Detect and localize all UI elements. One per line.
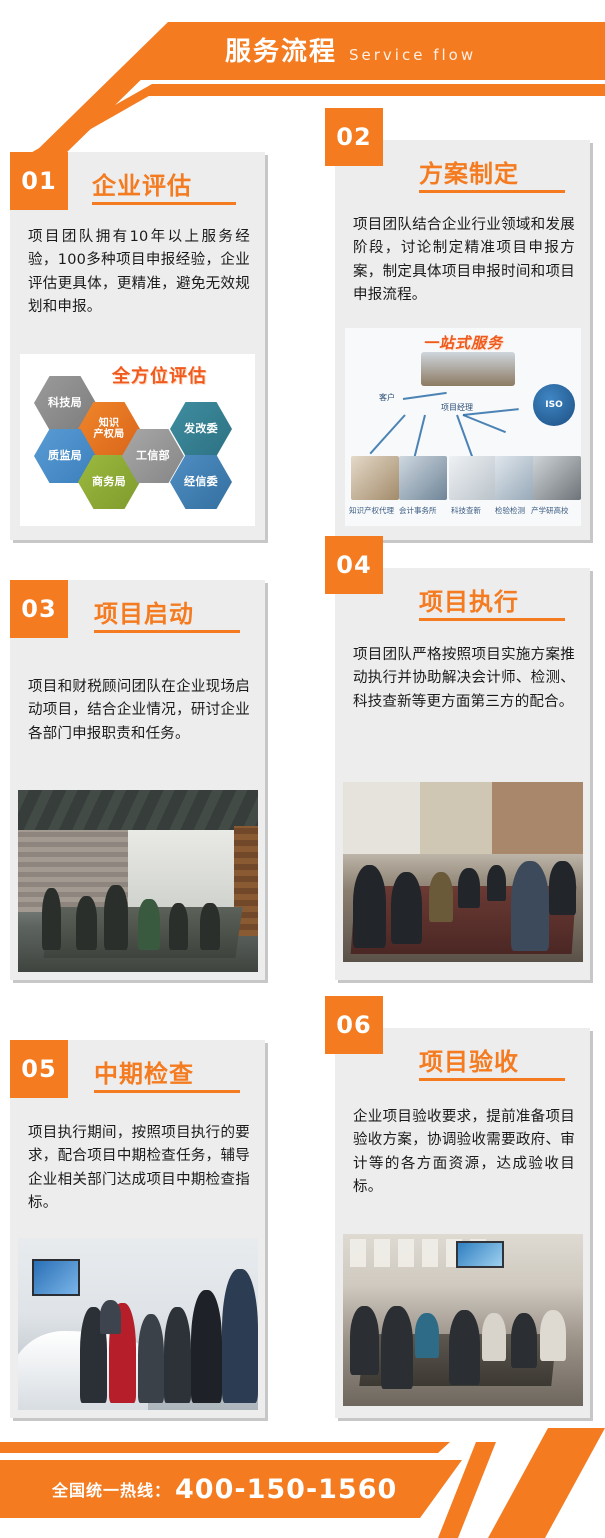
service-diagram-client-label: 客户 [379,392,395,403]
step-body-03: 项目和财税顾问团队在企业现场启动项目，结合企业情况，研讨企业各部门申报职责和任务… [28,676,250,746]
step-title-04: 项目执行 [419,582,519,617]
step-card-02[interactable]: 02 方案制定 项目团队结合企业行业领域和发展阶段，讨论制定精准项目申报方案，制… [335,140,590,540]
page-header: 服务流程 Service flow [0,0,605,118]
service-arrow-1 [403,392,447,400]
service-flow-poster: 服务流程 Service flow 01 企业评估 项目团队拥有10年以上服务经… [0,0,605,1538]
photo-lobby-group [18,1238,258,1410]
step-title-rule-04 [419,618,565,621]
step-media-01-hexagon-infographic: 全方位评估 科技局 知识 产权局 质监局 商务局 工信部 发改委 经信委 [20,354,255,526]
service-arrow-2 [463,414,506,433]
footer-stripe [0,1442,605,1453]
service-thumb-research [449,456,497,500]
service-arrow-5 [369,414,405,454]
step-body-02: 项目团队结合企业行业领域和发展阶段，讨论制定精准项目申报方案，制定具体项目申报时… [353,214,575,308]
step-number-badge-06: 06 [325,996,383,1054]
photo-conference-room [18,790,258,972]
service-diagram-title: 一站式服务 [423,332,503,353]
step-title-rule-03 [94,630,240,633]
step-title-rule-05 [94,1090,240,1093]
page-title: 服务流程 Service flow [225,30,476,74]
service-diagram-team-photo [421,352,515,386]
service-thumb-ip [351,456,399,500]
step-title-01: 企业评估 [92,166,192,201]
service-caption-research: 科技查新 [451,505,481,516]
step-number-badge-02: 02 [325,108,383,166]
hotline-label: 全国统一热线： [52,1477,171,1501]
step-title-rule-02 [419,190,565,193]
step-title-05: 中期检查 [94,1054,194,1089]
step-body-06: 企业项目验收要求，提前准备项目验收方案，协调验收需要政府、审计等的各方面资源，达… [353,1106,575,1200]
page-title-en: Service flow [349,33,476,77]
step-media-02-service-diagram: 一站式服务 客户 项目经理 知识产权代理 会计事务所 科技查新 检验检测 [345,328,581,526]
service-caption-ip: 知识产权代理 [349,505,394,516]
service-caption-accounting: 会计事务所 [399,505,437,516]
infographic-title: 全方位评估 [112,362,207,388]
service-thumb-accounting [399,456,447,500]
step-body-01: 项目团队拥有10年以上服务经验，100多种项目申报经验，企业评估更具体，更精准，… [28,226,250,320]
step-card-03[interactable]: 03 项目启动 项目和财税顾问团队在企业现场启动项目，结合企业情况，研讨企业各部… [10,580,265,980]
service-thumb-university [533,456,581,500]
step-media-03-photo-conference-room [18,790,258,972]
service-caption-university: 产学研高校 [531,505,569,516]
service-arrow-4 [456,415,473,457]
page-footer: 全国统一热线： 400-150-1560 [0,1418,605,1538]
hotline-phone[interactable]: 400-150-1560 [175,1474,397,1505]
step-number-badge-01: 01 [10,152,68,210]
step-title-02: 方案制定 [419,154,519,189]
header-stripe [0,84,605,96]
step-card-05[interactable]: 05 中期检查 项目执行期间，按照项目执行的要求，配合项目中期检查任务，辅导企业… [10,1040,265,1418]
step-title-rule-06 [419,1078,565,1081]
page-title-cn: 服务流程 [225,30,337,74]
service-arrow-6 [412,415,426,462]
step-media-05-photo-lobby-group [18,1238,258,1410]
step-card-06[interactable]: 06 项目验收 企业项目验收要求，提前准备项目验收方案，协调验收需要政府、审计等… [335,1028,590,1418]
photo-meeting-laptops [343,782,583,962]
service-diagram-certification-seal: ISO [533,384,575,426]
photo-boardroom [343,1234,583,1406]
step-body-04: 项目团队严格按照项目实施方案推动执行并协助解决会计师、检测、科技查新等更方面第三… [353,644,575,714]
step-card-04[interactable]: 04 项目执行 项目团队严格按照项目实施方案推动执行并协助解决会计师、检测、科技… [335,568,590,980]
step-title-rule-01 [92,202,236,205]
step-title-06: 项目验收 [419,1042,519,1077]
step-title-03: 项目启动 [94,594,194,629]
step-number-badge-04: 04 [325,536,383,594]
step-number-badge-03: 03 [10,580,68,638]
step-media-06-photo-boardroom [343,1234,583,1406]
step-media-04-photo-meeting-laptops [343,782,583,962]
step-number-badge-05: 05 [10,1040,68,1098]
step-body-05: 项目执行期间，按照项目执行的要求，配合项目中期检查任务，辅导企业相关部门达成项目… [28,1122,250,1216]
service-diagram-center-label: 项目经理 [441,402,473,413]
service-caption-testing: 检验检测 [495,505,525,516]
step-card-01[interactable]: 01 企业评估 项目团队拥有10年以上服务经验，100多种项目申报经验，企业评估… [10,152,265,540]
hotline: 全国统一热线： 400-150-1560 [52,1460,397,1518]
